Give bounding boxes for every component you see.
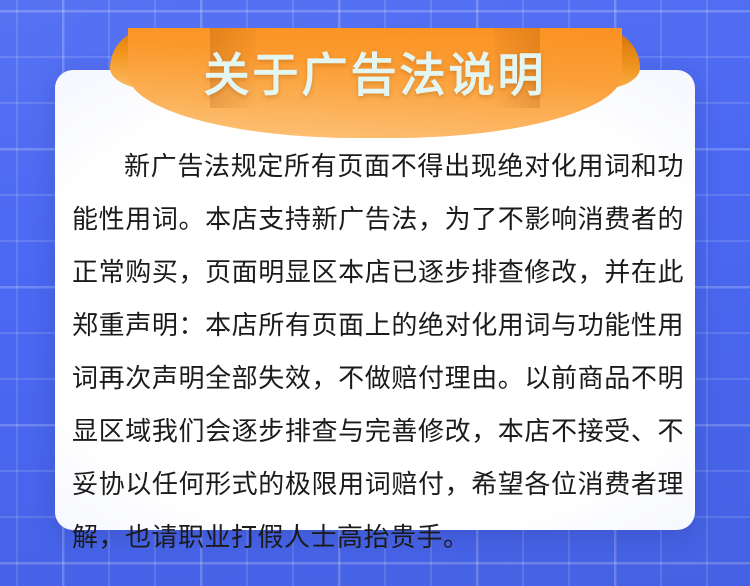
poster-title: 关于广告法说明 bbox=[110, 47, 640, 103]
title-ribbon: 关于广告法说明 bbox=[110, 28, 640, 138]
notice-body-text: 新广告法规定所有页面不得出现绝对化用词和功能性用词。本店支持新广告法，为了不影响… bbox=[72, 140, 684, 564]
advertising-law-notice-poster: 关于广告法说明 新广告法规定所有页面不得出现绝对化用词和功能性用词。本店支持新广… bbox=[0, 0, 750, 586]
